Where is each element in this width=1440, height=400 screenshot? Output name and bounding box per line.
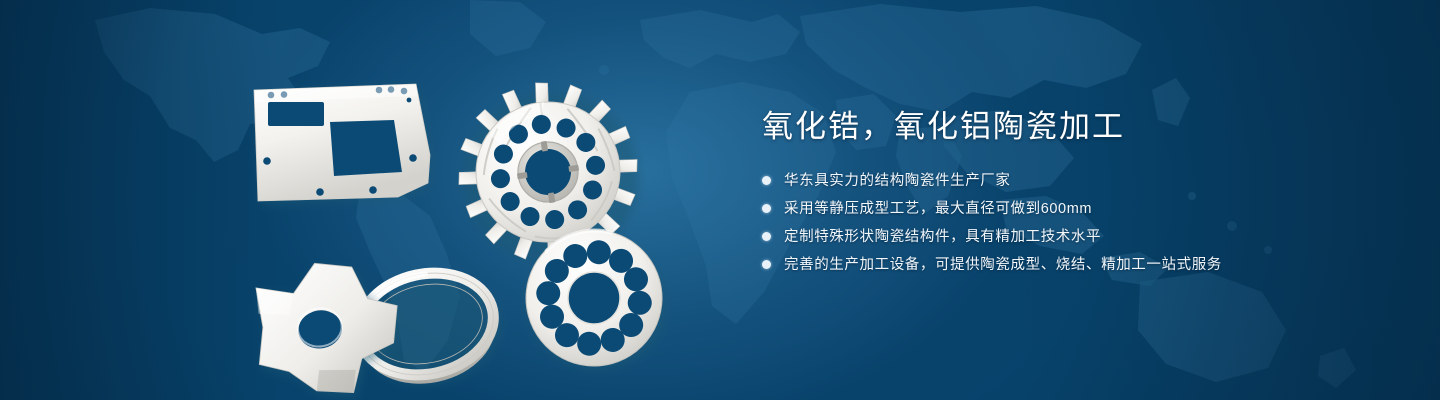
bullet-dot-icon: [762, 232, 771, 241]
ceramic-cross-plate: [244, 250, 414, 400]
page-title: 氧化锆，氧化铝陶瓷加工: [762, 108, 1362, 146]
bullet-dot-icon: [762, 260, 771, 269]
feature-text: 完善的生产加工设备，可提供陶瓷成型、烧结、精加工一站式服务: [784, 255, 1222, 275]
list-item: 定制特殊形状陶瓷结构件，具有精加工技术水平: [762, 224, 1362, 249]
bullet-dot-icon: [762, 204, 771, 213]
bullet-dot-icon: [762, 176, 771, 185]
banner-text-column: 氧化锆，氧化铝陶瓷加工 华东具实力的结构陶瓷件生产厂家 采用等静压成型工艺，最大…: [762, 108, 1362, 293]
hero-banner: 氧化锆，氧化铝陶瓷加工 华东具实力的结构陶瓷件生产厂家 采用等静压成型工艺，最大…: [0, 0, 1440, 400]
feature-text: 定制特殊形状陶瓷结构件，具有精加工技术水平: [784, 227, 1101, 247]
product-photo-group: [230, 40, 710, 390]
feature-text: 华东具实力的结构陶瓷件生产厂家: [784, 171, 1011, 191]
ceramic-mounting-plate: [254, 84, 432, 204]
list-item: 完善的生产加工设备，可提供陶瓷成型、烧结、精加工一站式服务: [762, 252, 1362, 277]
feature-text: 采用等静压成型工艺，最大直径可做到600mm: [784, 199, 1092, 219]
feature-list: 华东具实力的结构陶瓷件生产厂家 采用等静压成型工艺，最大直径可做到600mm 定…: [762, 168, 1362, 277]
list-item: 采用等静压成型工艺，最大直径可做到600mm: [762, 196, 1362, 221]
list-item: 华东具实力的结构陶瓷件生产厂家: [762, 168, 1362, 193]
